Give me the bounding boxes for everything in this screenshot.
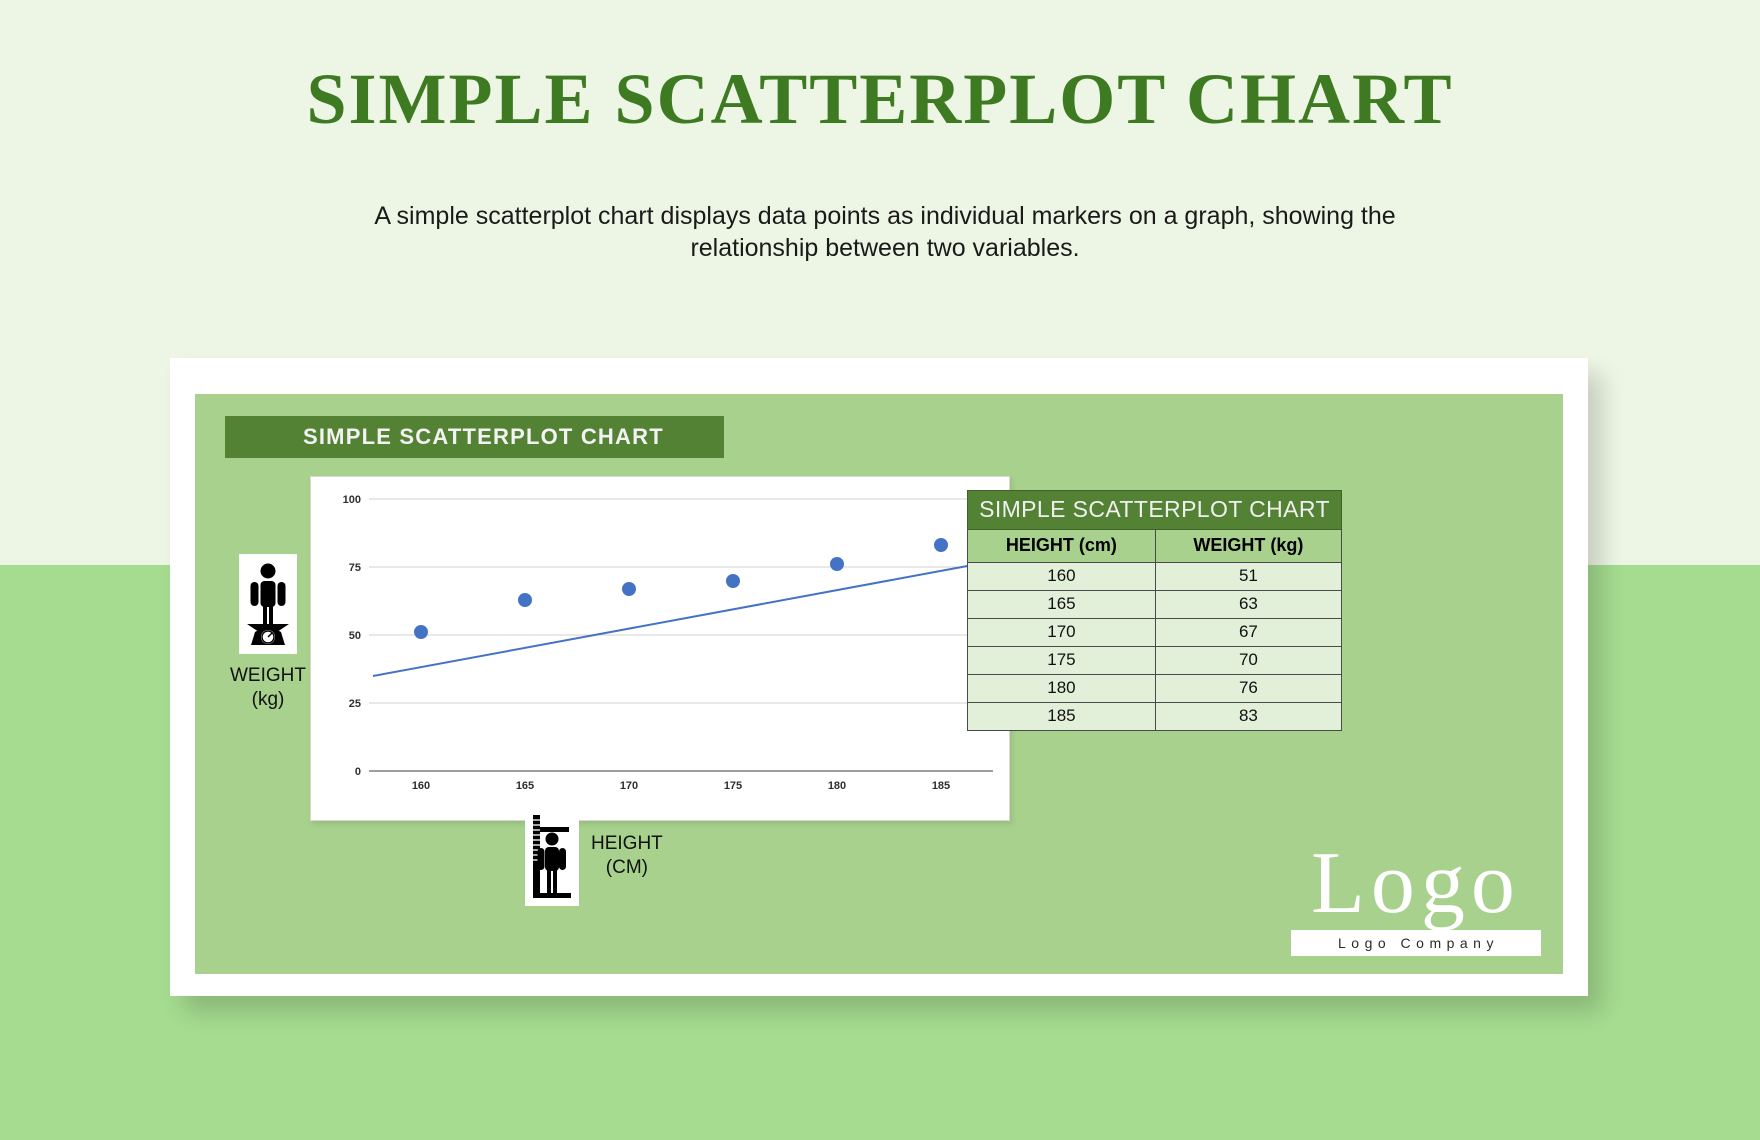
data-table: SIMPLE SCATTERPLOT CHART HEIGHT (cm) WEI… xyxy=(967,490,1342,731)
svg-text:75: 75 xyxy=(349,562,361,574)
y-tick-labels: 100 75 50 25 0 xyxy=(343,494,361,778)
scatterplot-svg: 100 75 50 25 0 160 165 170 175 180 185 xyxy=(311,477,1011,822)
svg-text:0: 0 xyxy=(355,766,361,778)
cell-height: 170 xyxy=(968,619,1156,647)
cell-weight: 83 xyxy=(1155,703,1341,731)
chart-panel: SIMPLE SCATTERPLOT CHART xyxy=(195,394,1563,974)
chart-title-banner: SIMPLE SCATTERPLOT CHART xyxy=(225,416,724,458)
table-row: 185 83 xyxy=(968,703,1342,731)
table-row: 175 70 xyxy=(968,647,1342,675)
y-axis-label-line2: (kg) xyxy=(213,688,323,712)
cell-weight: 51 xyxy=(1155,563,1341,591)
cell-height: 180 xyxy=(968,675,1156,703)
data-point xyxy=(934,538,948,552)
gridlines xyxy=(369,499,993,703)
cell-weight: 70 xyxy=(1155,647,1341,675)
x-tick-labels: 160 165 170 175 180 185 xyxy=(412,780,950,792)
table-row: 180 76 xyxy=(968,675,1342,703)
x-axis-label: HEIGHT (CM) xyxy=(591,832,663,880)
svg-text:160: 160 xyxy=(412,780,430,792)
page-title: SIMPLE SCATTERPLOT CHART xyxy=(0,62,1760,138)
table-title: SIMPLE SCATTERPLOT CHART xyxy=(968,491,1342,530)
cell-weight: 76 xyxy=(1155,675,1341,703)
cell-weight: 67 xyxy=(1155,619,1341,647)
height-icon-box xyxy=(525,806,579,906)
x-axis-legend: HEIGHT (CM) xyxy=(525,806,663,906)
data-point xyxy=(518,593,532,607)
cell-height: 165 xyxy=(968,591,1156,619)
person-height-measure-icon xyxy=(529,811,575,901)
x-axis-label-line1: HEIGHT xyxy=(591,832,663,856)
data-point xyxy=(414,625,428,639)
x-axis-label-line2: (CM) xyxy=(591,856,663,880)
logo-company-name: Logo Company xyxy=(1291,930,1541,956)
y-axis-label: WEIGHT (kg) xyxy=(213,664,323,712)
cell-height: 185 xyxy=(968,703,1156,731)
svg-text:185: 185 xyxy=(932,780,950,792)
svg-text:25: 25 xyxy=(349,698,361,710)
table-row: 165 63 xyxy=(968,591,1342,619)
cell-weight: 63 xyxy=(1155,591,1341,619)
table-header-row: HEIGHT (cm) WEIGHT (kg) xyxy=(968,530,1342,563)
svg-text:175: 175 xyxy=(724,780,742,792)
svg-text:170: 170 xyxy=(620,780,638,792)
person-on-weighing-scale-icon xyxy=(243,560,293,648)
table-row: 170 67 xyxy=(968,619,1342,647)
data-markers xyxy=(414,538,948,639)
svg-text:165: 165 xyxy=(516,780,534,792)
weight-icon-box xyxy=(239,554,297,654)
data-point xyxy=(830,557,844,571)
chart-title-text: SIMPLE SCATTERPLOT CHART xyxy=(303,424,664,450)
data-point xyxy=(622,582,636,596)
page-subtitle: A simple scatterplot chart displays data… xyxy=(330,200,1440,264)
scatterplot-canvas: 100 75 50 25 0 160 165 170 175 180 185 xyxy=(310,476,1010,821)
data-point xyxy=(726,574,740,588)
svg-text:100: 100 xyxy=(343,494,361,506)
cell-height: 160 xyxy=(968,563,1156,591)
svg-text:180: 180 xyxy=(828,780,846,792)
y-axis-legend: WEIGHT (kg) xyxy=(213,554,323,712)
chart-card: SIMPLE SCATTERPLOT CHART xyxy=(170,358,1588,996)
table-title-row: SIMPLE SCATTERPLOT CHART xyxy=(968,491,1342,530)
table-col-height: HEIGHT (cm) xyxy=(968,530,1156,563)
cell-height: 175 xyxy=(968,647,1156,675)
y-axis-label-line1: WEIGHT xyxy=(213,664,323,688)
trendline xyxy=(373,562,989,676)
logo: Logo Logo Company xyxy=(1291,842,1541,956)
svg-text:50: 50 xyxy=(349,630,361,642)
table-col-weight: WEIGHT (kg) xyxy=(1155,530,1341,563)
table-row: 160 51 xyxy=(968,563,1342,591)
logo-wordmark: Logo xyxy=(1291,842,1541,926)
